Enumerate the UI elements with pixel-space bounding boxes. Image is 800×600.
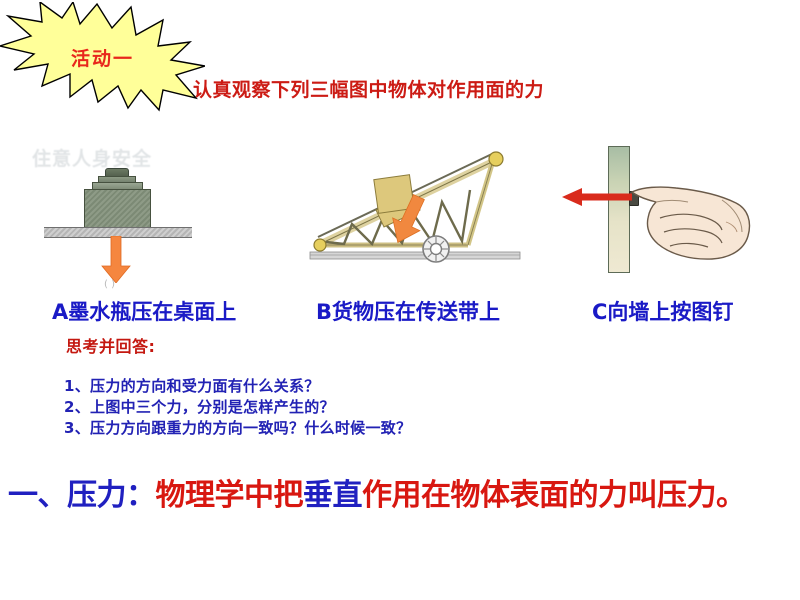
definition-part-tail: 作用在物体表面的力叫压力。	[362, 478, 746, 513]
definition-line: 一、压力：物理学中把垂直作用在物体表面的力叫压力。	[8, 470, 798, 514]
figure-a-footmark: ( )	[104, 279, 115, 290]
activity-badge-label: 活动一	[0, 44, 205, 71]
figure-conveyor-belt	[300, 132, 530, 287]
question-item: 1、压力的方向和受力面有什么关系？	[64, 376, 664, 397]
definition-part-heading: 一、压力：	[8, 478, 156, 513]
caption-figure-a: A墨水瓶压在桌面上	[52, 296, 236, 326]
ink-bottle-body	[84, 189, 151, 230]
hand-drawing	[626, 170, 756, 270]
figure-thumbtack-wall	[560, 132, 790, 287]
figure-ink-bottle: 住意人身安全 ( )	[22, 132, 252, 287]
question-item: 3、压力方向跟重力的方向一致吗？什么时候一致？	[64, 418, 664, 439]
question-item: 2、上图中三个力，分别是怎样产生的？	[64, 397, 664, 418]
definition-part-emphasis: 垂直	[303, 478, 362, 513]
figure-row: 住意人身安全 ( )	[0, 132, 800, 287]
page-title: 认真观察下列三幅图中物体对作用面的力	[193, 75, 544, 102]
think-and-answer-label: 思考并回答:	[66, 333, 155, 357]
watermark-text: 住意人身安全	[32, 144, 152, 171]
conveyor-drawing	[300, 132, 530, 287]
force-arrow-down-icon	[100, 236, 132, 283]
caption-figure-c: C向墙上按图钉	[592, 296, 733, 326]
activity-badge: 活动一	[0, 2, 205, 112]
force-arrow-left-icon	[560, 187, 632, 207]
question-list: 1、压力的方向和受力面有什么关系？ 2、上图中三个力，分别是怎样产生的？ 3、压…	[64, 376, 664, 439]
figure-captions: A墨水瓶压在桌面上 B货物压在传送带上 C向墙上按图钉	[0, 296, 800, 324]
caption-figure-b: B货物压在传送带上	[316, 296, 500, 326]
definition-part-lead: 物理学中把	[156, 478, 304, 513]
